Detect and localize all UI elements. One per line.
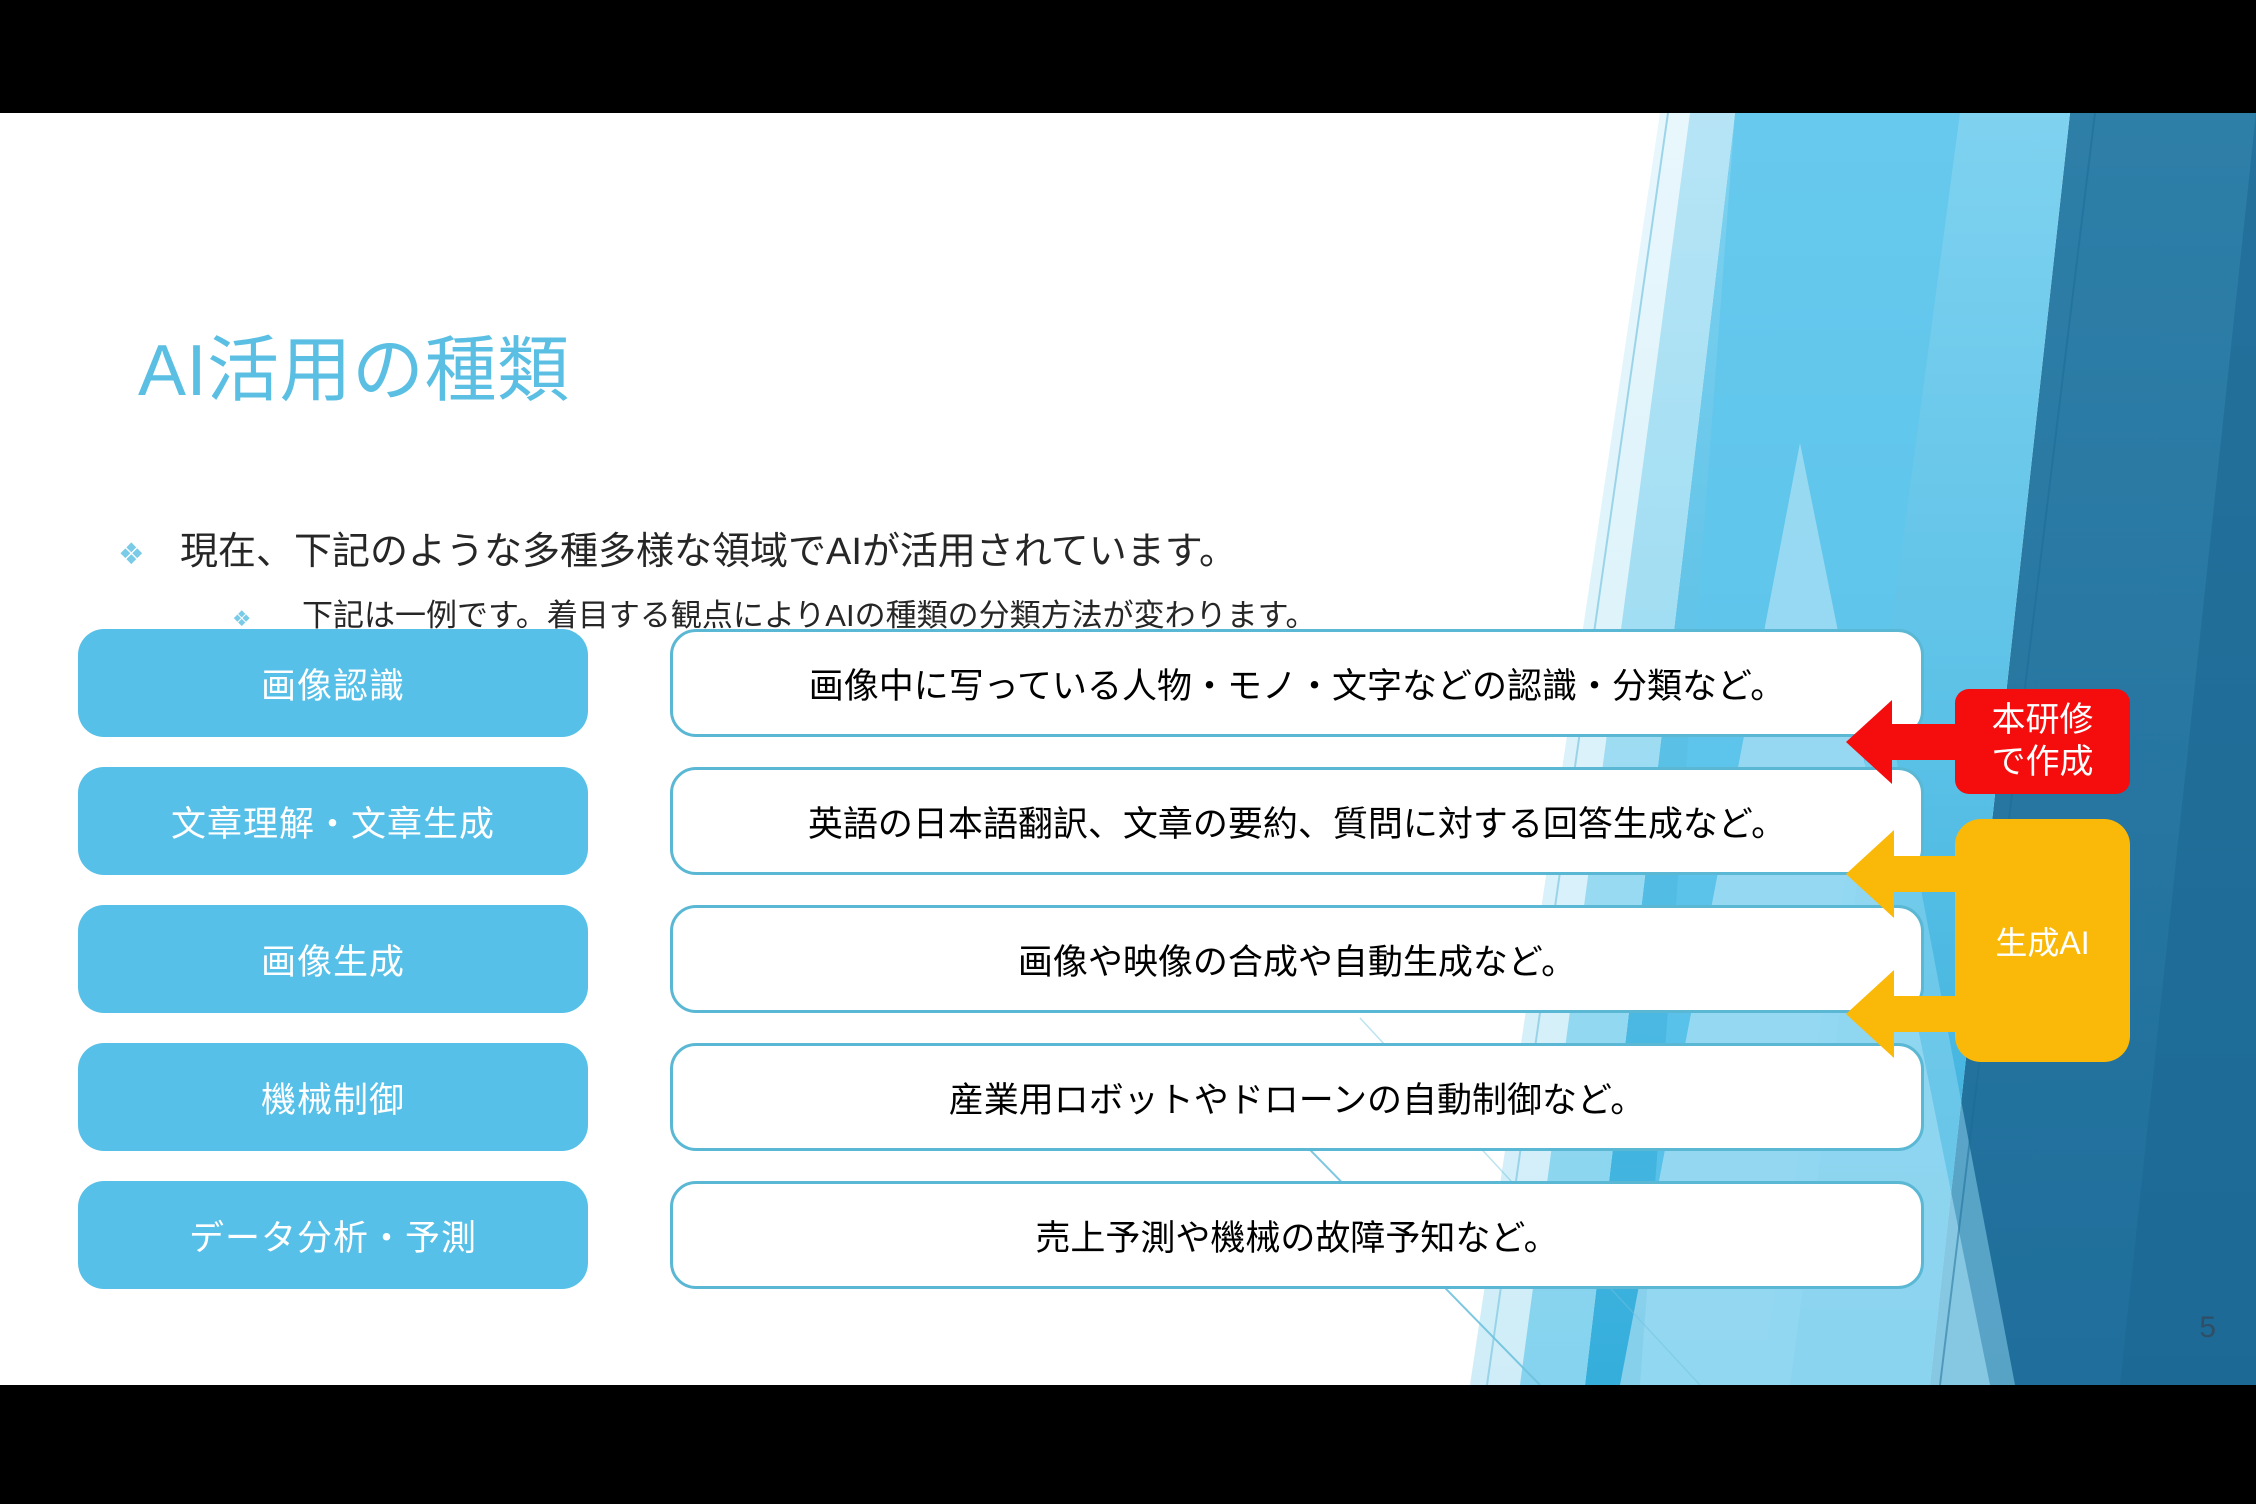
page-number: 5 [2199, 1311, 2216, 1345]
row-label: データ分析・予測 [78, 1181, 588, 1289]
callout-red: 本研修 で作成 [1955, 689, 2130, 794]
row-label: 機械制御 [78, 1043, 588, 1151]
row-label: 画像生成 [78, 905, 588, 1013]
callout-red-line2: で作成 [1992, 742, 2094, 783]
bullet-item-primary: ❖ 現在、下記のような多種多様な領域でAIが活用されています。 [118, 520, 1237, 575]
bullet-marker-icon: ❖ [118, 536, 180, 572]
row-description: 売上予測や機械の故障予知など。 [670, 1181, 1924, 1289]
bullet-text-primary: 現在、下記のような多種多様な領域でAIが活用されています。 [180, 520, 1237, 575]
page-title: AI活用の種類 [138, 335, 570, 407]
row-description: 産業用ロボットやドローンの自動制御など。 [670, 1043, 1924, 1151]
callout-yellow: 生成AI [1955, 819, 2130, 1062]
row-label: 文章理解・文章生成 [78, 767, 588, 875]
row-description: 英語の日本語翻訳、文章の要約、質問に対する回答生成など。 [670, 767, 1924, 875]
row-description: 画像や映像の合成や自動生成など。 [670, 905, 1924, 1013]
slide-viewport: AI活用の種類 ❖ 現在、下記のような多種多様な領域でAIが活用されています。 … [0, 0, 2256, 1504]
row-label: 画像認識 [78, 629, 588, 737]
callout-red-line1: 本研修 [1992, 700, 2094, 741]
row-description: 画像中に写っている人物・モノ・文字などの認識・分類など。 [670, 629, 1924, 737]
callout-yellow-label: 生成AI [1995, 918, 2089, 964]
presentation-slide: AI活用の種類 ❖ 現在、下記のような多種多様な領域でAIが活用されています。 … [0, 113, 2256, 1385]
